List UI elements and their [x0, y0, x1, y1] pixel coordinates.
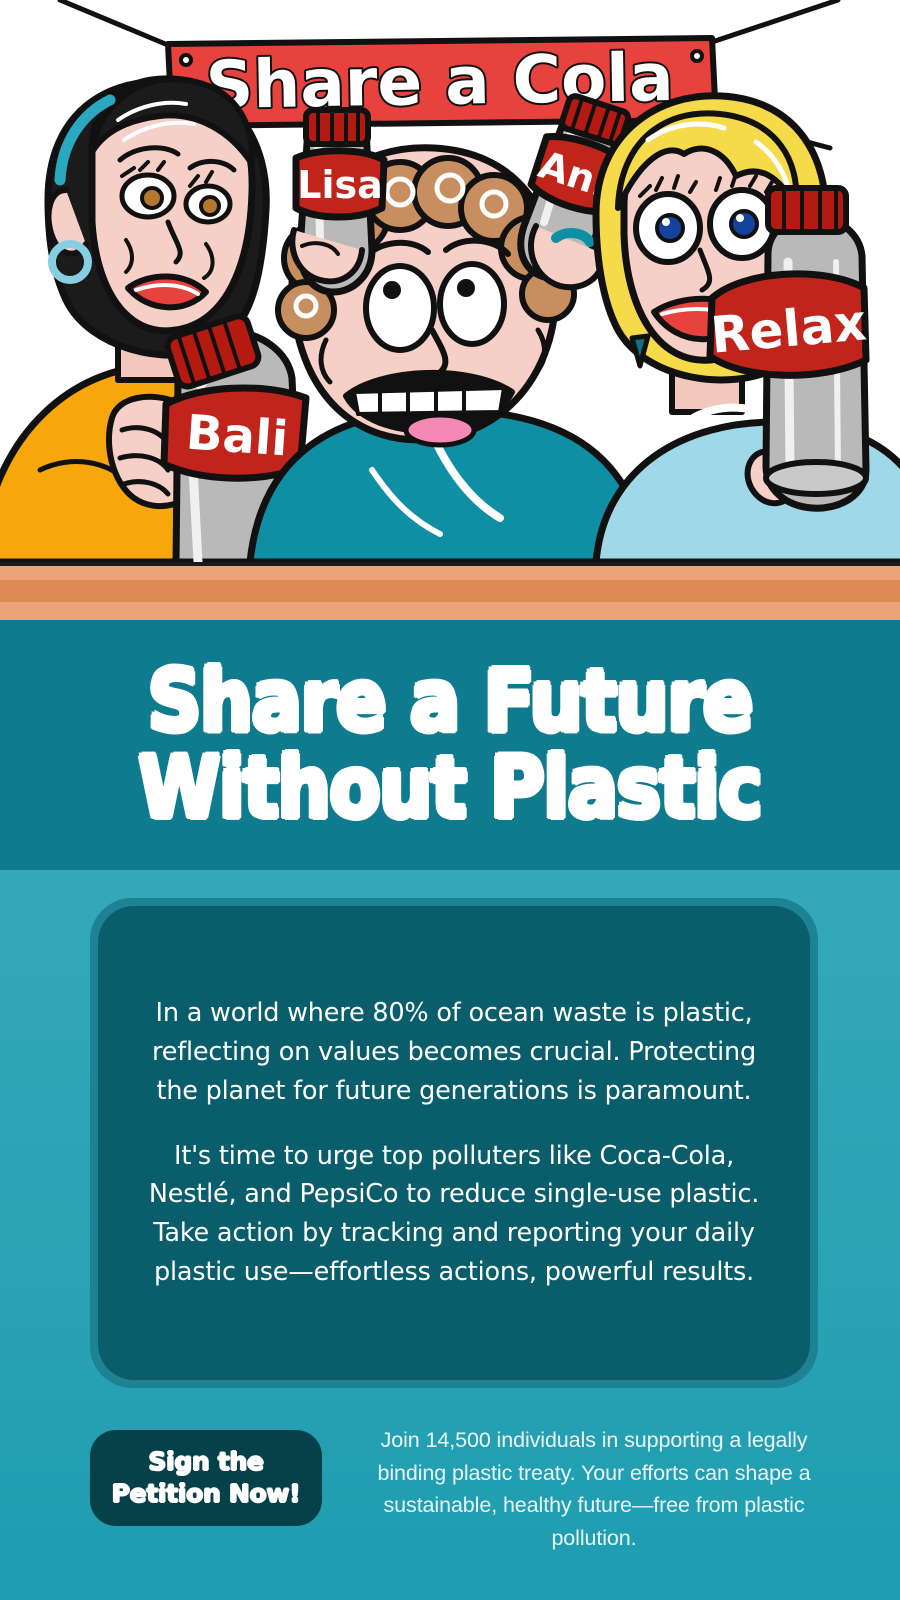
cta-section: Sign the Petition Now! Join 14,500 indiv… [0, 1402, 900, 1572]
body-card-frame: In a world where 80% of ocean waste is p… [90, 898, 818, 1388]
shelf-divider [0, 562, 900, 620]
cta-supporting-text: Join 14,500 individuals in supporting a … [364, 1424, 824, 1555]
bottle-label-lisa: Lisa [297, 163, 383, 207]
sign-petition-button[interactable]: Sign the Petition Now! [90, 1430, 322, 1526]
headline-section: Share a Future Without Plastic [0, 620, 900, 870]
body-paragraph-2: It's time to urge top polluters like Coc… [144, 1137, 764, 1292]
hero-illustration: Share a Cola [0, 0, 900, 562]
page-title: Share a Future Without Plastic [99, 658, 802, 832]
poster-page: Share a Cola [0, 0, 900, 1600]
sign-petition-button-line-1: Sign the [148, 1446, 263, 1478]
shelf-band-bottom [0, 602, 900, 620]
bottle-lisa: Lisa [292, 110, 384, 292]
shelf-band-top [0, 566, 900, 580]
sign-petition-button-line-2: Petition Now! [112, 1478, 301, 1510]
banner: Share a Cola [168, 38, 716, 126]
bottle-label-bali: Bali [184, 405, 290, 468]
page-title-line-2: Without Plastic [139, 745, 762, 832]
cartoon-scene: Share a Cola [0, 0, 900, 562]
shelf-band-middle [0, 580, 900, 602]
page-title-line-1: Share a Future [139, 658, 762, 745]
body-card: In a world where 80% of ocean waste is p… [98, 906, 810, 1380]
body-paragraph-1: In a world where 80% of ocean waste is p… [144, 994, 764, 1110]
